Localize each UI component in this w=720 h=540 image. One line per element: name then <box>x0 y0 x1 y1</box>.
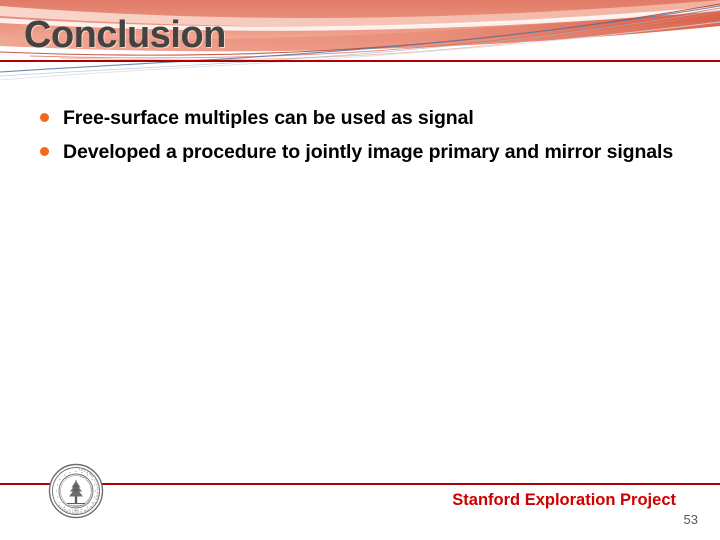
list-item: Developed a procedure to jointly image p… <box>40 138 688 166</box>
slide: Conclusion Free-surface multiples can be… <box>0 0 720 540</box>
bullet-dot-icon <box>40 113 49 122</box>
header-divider-rule <box>0 60 720 62</box>
page-title: Conclusion <box>24 12 226 58</box>
stanford-seal-icon: LELAND STANFORD JUNIOR UNIVERSITY DIE LU… <box>48 463 104 519</box>
bullet-text: Developed a procedure to jointly image p… <box>63 138 688 166</box>
footer-divider-rule <box>0 483 720 485</box>
list-item: Free-surface multiples can be used as si… <box>40 104 688 132</box>
bullet-text: Free-surface multiples can be used as si… <box>63 104 688 132</box>
footer-brand-text: Stanford Exploration Project <box>452 491 676 510</box>
bullet-list: Free-surface multiples can be used as si… <box>40 104 688 172</box>
page-number: 53 <box>684 512 698 527</box>
bullet-dot-icon <box>40 147 49 156</box>
svg-text:1891: 1891 <box>72 509 80 513</box>
